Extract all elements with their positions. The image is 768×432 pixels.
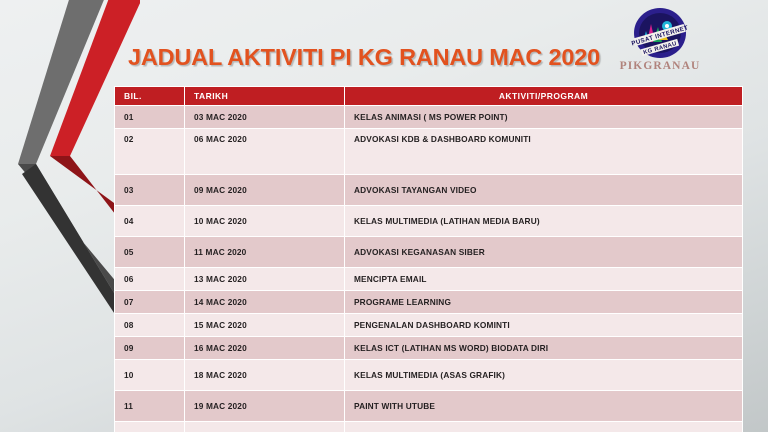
cell-bil: 09 <box>115 337 185 360</box>
table-header: BIL. TARIKH AKTIVITI/PROGRAM <box>115 87 743 106</box>
cell-bil: 05 <box>115 237 185 268</box>
column-header-tarikh: TARIKH <box>185 87 345 106</box>
activity-schedule-table: BIL. TARIKH AKTIVITI/PROGRAM 01 03 MAC 2… <box>114 86 743 432</box>
table-row: 12 20 MAC 2020 KELAS PENGENALAN INTERNET… <box>115 422 743 432</box>
table-body: 01 03 MAC 2020 KELAS ANIMASI ( MS POWER … <box>115 106 743 432</box>
cell-tarikh: 06 MAC 2020 <box>185 129 345 175</box>
table-row: 07 14 MAC 2020 PROGRAME LEARNING <box>115 291 743 314</box>
table-row: 03 09 MAC 2020 ADVOKASI TAYANGAN VIDEO <box>115 175 743 206</box>
slide-canvas: JADUAL AKTIVITI PI KG RANAU MAC 2020 PUS… <box>0 0 768 432</box>
cell-aktiviti: ADVOKASI TAYANGAN VIDEO <box>345 175 743 206</box>
table-row: 11 19 MAC 2020 PAINT WITH UTUBE <box>115 391 743 422</box>
cell-tarikh: 10 MAC 2020 <box>185 206 345 237</box>
cell-aktiviti: PAINT WITH UTUBE <box>345 391 743 422</box>
logo-caption: PIKGRANAU <box>608 60 712 72</box>
logo-badge-icon: PUSAT INTERNET KG RANAU <box>629 6 691 64</box>
cell-aktiviti: KELAS PENGENALAN INTERNET DAN KOMPUTER <box>345 422 743 432</box>
table-row: 10 18 MAC 2020 KELAS MULTIMEDIA (ASAS GR… <box>115 360 743 391</box>
table-header-row: BIL. TARIKH AKTIVITI/PROGRAM <box>115 87 743 106</box>
organization-logo: PUSAT INTERNET KG RANAU PIKGRANAU <box>608 6 712 84</box>
cell-bil: 07 <box>115 291 185 314</box>
cell-bil: 08 <box>115 314 185 337</box>
cell-tarikh: 11 MAC 2020 <box>185 237 345 268</box>
cell-aktiviti: KELAS MULTIMEDIA (LATIHAN MEDIA BARU) <box>345 206 743 237</box>
chevron-gray-lower-shade <box>22 164 128 334</box>
cell-aktiviti: KELAS MULTIMEDIA (ASAS GRAFIK) <box>345 360 743 391</box>
cell-tarikh: 09 MAC 2020 <box>185 175 345 206</box>
cell-tarikh: 03 MAC 2020 <box>185 106 345 129</box>
cell-bil: 10 <box>115 360 185 391</box>
cell-aktiviti: KELAS ANIMASI ( MS POWER POINT) <box>345 106 743 129</box>
cell-tarikh: 15 MAC 2020 <box>185 314 345 337</box>
cell-bil: 02 <box>115 129 185 175</box>
cell-bil: 04 <box>115 206 185 237</box>
cell-aktiviti: PROGRAME LEARNING <box>345 291 743 314</box>
cell-aktiviti: MENCIPTA EMAIL <box>345 268 743 291</box>
cell-tarikh: 20 MAC 2020 <box>185 422 345 432</box>
table-row: 09 16 MAC 2020 KELAS ICT (LATIHAN MS WOR… <box>115 337 743 360</box>
column-header-bil: BIL. <box>115 87 185 106</box>
table-row: 05 11 MAC 2020 ADVOKASI KEGANASAN SIBER <box>115 237 743 268</box>
cell-bil: 03 <box>115 175 185 206</box>
cell-aktiviti: KELAS ICT (LATIHAN MS WORD) BIODATA DIRI <box>345 337 743 360</box>
cell-aktiviti: ADVOKASI KEGANASAN SIBER <box>345 237 743 268</box>
cell-aktiviti: PENGENALAN DASHBOARD KOMINTI <box>345 314 743 337</box>
cell-tarikh: 19 MAC 2020 <box>185 391 345 422</box>
column-header-aktiviti: AKTIVITI/PROGRAM <box>345 87 743 106</box>
table-row: 01 03 MAC 2020 KELAS ANIMASI ( MS POWER … <box>115 106 743 129</box>
cell-tarikh: 13 MAC 2020 <box>185 268 345 291</box>
cell-bil: 01 <box>115 106 185 129</box>
cell-tarikh: 18 MAC 2020 <box>185 360 345 391</box>
table-row: 02 06 MAC 2020 ADVOKASI KDB & DASHBOARD … <box>115 129 743 175</box>
chevron-gray-lower <box>18 164 128 316</box>
cell-aktiviti: ADVOKASI KDB & DASHBOARD KOMUNITI <box>345 129 743 175</box>
cell-bil: 06 <box>115 268 185 291</box>
page-title: JADUAL AKTIVITI PI KG RANAU MAC 2020 <box>114 44 614 71</box>
chevron-gray-upper <box>18 0 108 164</box>
table-row: 06 13 MAC 2020 MENCIPTA EMAIL <box>115 268 743 291</box>
cell-bil: 11 <box>115 391 185 422</box>
cell-bil: 12 <box>115 422 185 432</box>
table-row: 04 10 MAC 2020 KELAS MULTIMEDIA (LATIHAN… <box>115 206 743 237</box>
cell-tarikh: 14 MAC 2020 <box>185 291 345 314</box>
cell-tarikh: 16 MAC 2020 <box>185 337 345 360</box>
table-row: 08 15 MAC 2020 PENGENALAN DASHBOARD KOMI… <box>115 314 743 337</box>
